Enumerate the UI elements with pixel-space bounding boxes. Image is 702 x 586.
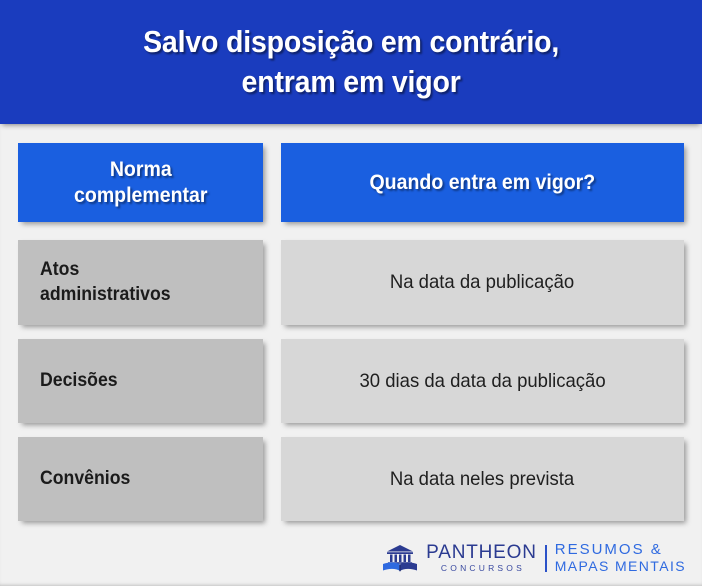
table-cell-norma-text: Decisões [40, 369, 118, 393]
table-row: Decisões 30 dias da data da publicação [0, 339, 702, 423]
table-cell-vigor: 30 dias da data da publicação [281, 339, 684, 423]
table-cell-norma: Convênios [18, 437, 263, 521]
page-title-line-1: Salvo disposição em contrário, [143, 22, 559, 62]
table-header-vigor-text: Quando entra em vigor? [370, 170, 596, 195]
table-cell-vigor-text: Na data neles prevista [390, 467, 574, 491]
brand-name: PANTHEON [426, 543, 537, 562]
page-title-line-2: entram em vigor [143, 62, 559, 102]
table-header-norma-text: Norma complementar [74, 157, 207, 207]
table-row: Atos administrativos Na data da publicaç… [0, 240, 702, 325]
brand-tagline-line-1: RESUMOS & [555, 542, 686, 558]
table-cell-norma: Decisões [18, 339, 263, 423]
table-cell-norma-line-1: Convênios [40, 467, 130, 491]
brand-name-block: PANTHEON CONCURSOS [426, 543, 537, 573]
table-cell-vigor: Na data neles prevista [281, 437, 684, 521]
table-cell-vigor-text: 30 dias da data da publicação [359, 369, 605, 393]
table-cell-norma-line-1: Decisões [40, 369, 118, 393]
table-cell-norma-line-1: Atos [40, 258, 171, 282]
table-header-cell-norma: Norma complementar [18, 143, 263, 222]
brand-tagline-line-2: MAPAS MENTAIS [555, 559, 686, 574]
table-cell-vigor: Na data da publicação [281, 240, 684, 325]
brand-tagline-block: RESUMOS & MAPAS MENTAIS [555, 542, 686, 573]
brand-logo: PANTHEON CONCURSOS RESUMOS & MAPAS MENTA… [380, 540, 686, 576]
table-cell-norma-text: Convênios [40, 467, 130, 491]
table-header-row: Norma complementar Quando entra em vigor… [0, 143, 702, 222]
title-banner: Salvo disposição em contrário, entram em… [0, 0, 702, 124]
brand-subtitle: CONCURSOS [438, 564, 525, 573]
slide-canvas: Salvo disposição em contrário, entram em… [0, 0, 702, 586]
table-cell-norma-text: Atos administrativos [40, 258, 171, 307]
table-row: Convênios Na data neles prevista [0, 437, 702, 521]
logo-divider [545, 545, 547, 572]
table-header-cell-vigor: Quando entra em vigor? [281, 143, 684, 222]
table-cell-vigor-text: Na data da publicação [390, 270, 574, 294]
pantheon-temple-book-icon [380, 543, 420, 573]
table-cell-norma: Atos administrativos [18, 240, 263, 325]
table-header-norma-line-2: complementar [74, 183, 207, 208]
table-cell-norma-line-2: administrativos [40, 283, 171, 307]
page-title: Salvo disposição em contrário, entram em… [106, 22, 596, 101]
table-header-norma-line-1: Norma [74, 157, 207, 182]
